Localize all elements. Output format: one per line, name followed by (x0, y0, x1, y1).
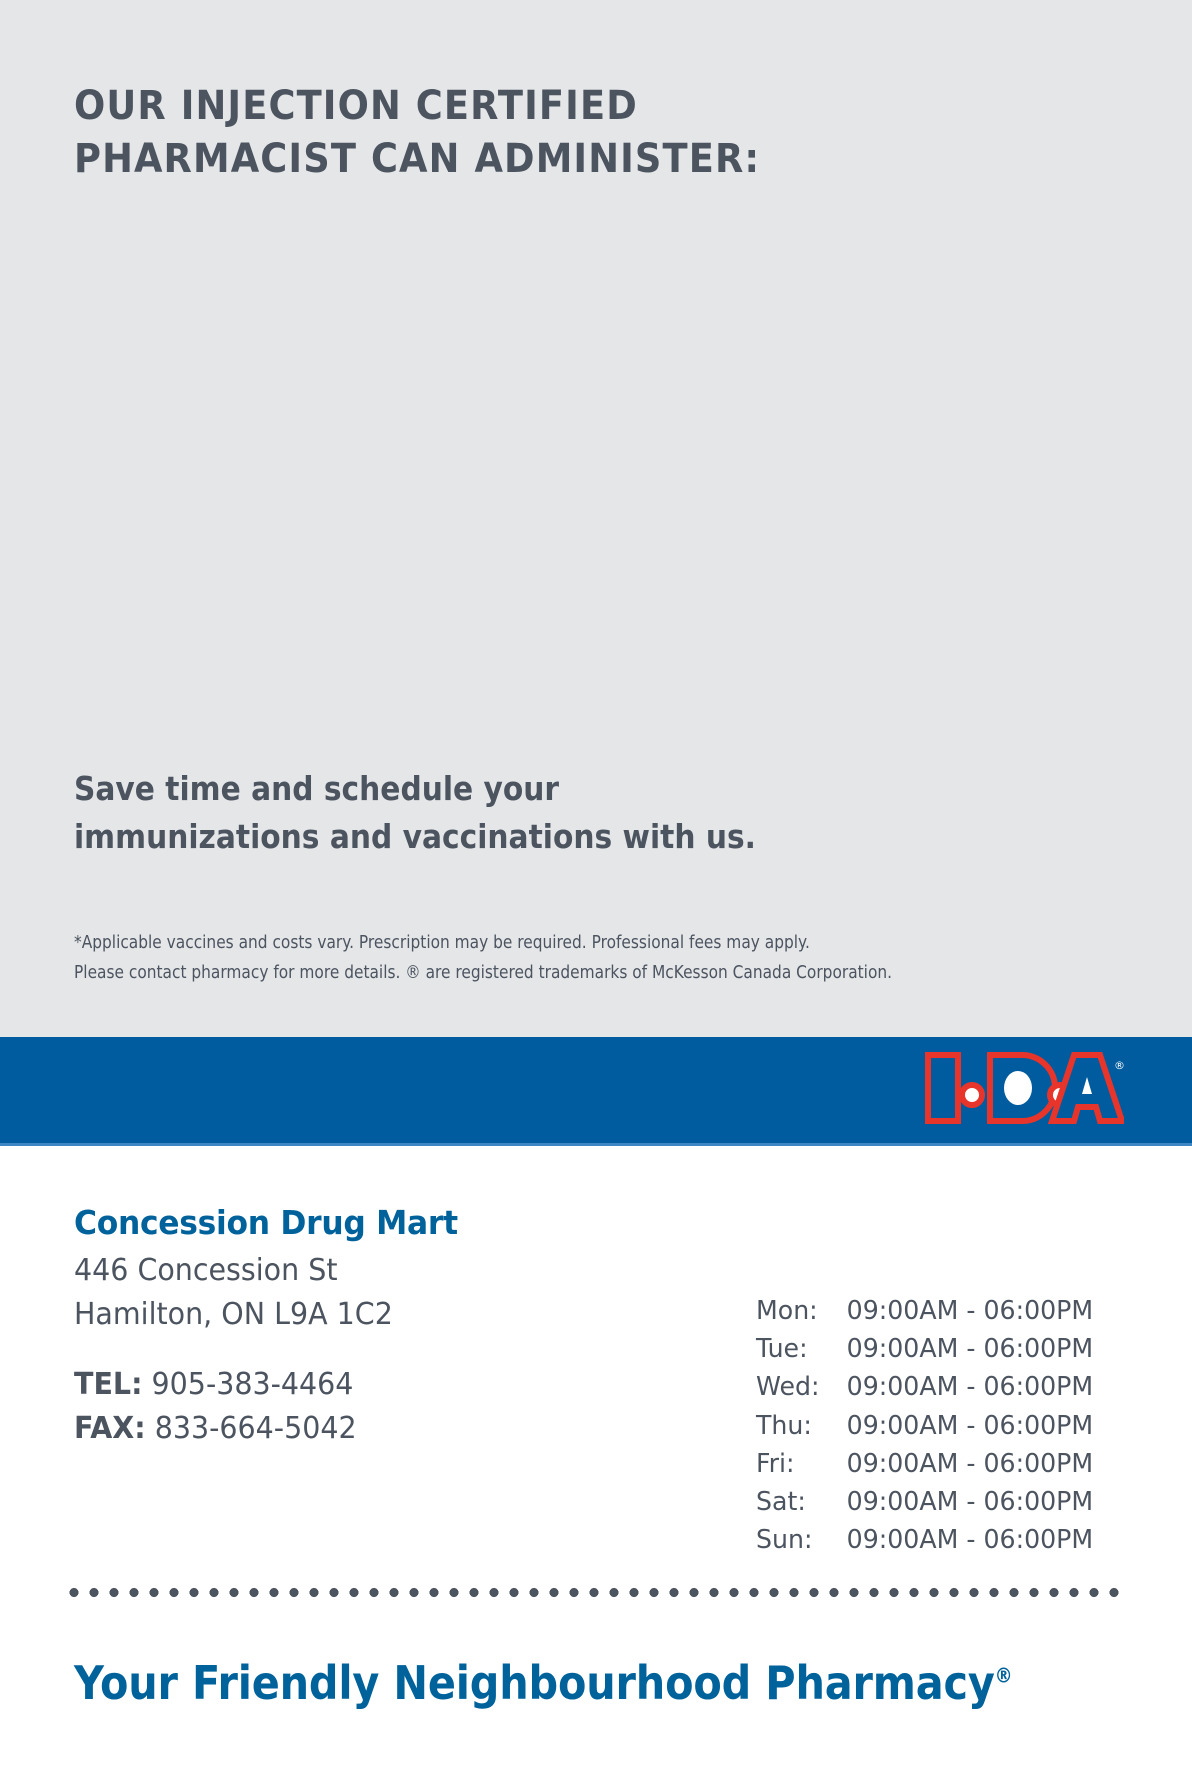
subheading-line-1: Save time and schedule your (74, 765, 848, 813)
registered-trademark-icon: ® (995, 1664, 1013, 1688)
table-row: Mon: 09:00AM - 06:00PM (756, 1292, 1093, 1330)
telephone-row: TEL: 905-383-4464 (74, 1363, 606, 1407)
hours-time: 09:00AM - 06:00PM (847, 1407, 1093, 1445)
address-line-2: Hamilton, ON L9A 1C2 (74, 1293, 606, 1337)
hours-time: 09:00AM - 06:00PM (847, 1521, 1093, 1559)
store-name: Concession Drug Mart (74, 1203, 606, 1243)
hours-time: 09:00AM - 06:00PM (847, 1330, 1093, 1368)
hours-time: 09:00AM - 06:00PM (847, 1445, 1093, 1483)
subheading-line-2: immunizations and vaccinations with us. (74, 813, 848, 861)
headline-line-2: PHARMACIST CAN ADMINISTER: (74, 133, 902, 186)
subheading: Save time and schedule your immunization… (74, 765, 848, 861)
store-address: 446 Concession St Hamilton, ON L9A 1C2 (74, 1249, 606, 1337)
fax-value: 833-664-5042 (155, 1411, 357, 1446)
brand-band-accent-line (0, 1143, 1192, 1146)
page-title: OUR INJECTION CERTIFIED PHARMACIST CAN A… (74, 80, 902, 186)
disclaimer-text: *Applicable vaccines and costs vary. Pre… (74, 928, 1007, 988)
hours-time: 09:00AM - 06:00PM (847, 1368, 1093, 1406)
hours-day: Sun: (756, 1521, 847, 1559)
tagline-text: Your Friendly Neighbourhood Pharmacy (74, 1656, 995, 1710)
headline-line-1: OUR INJECTION CERTIFIED (74, 80, 902, 133)
hours-day: Fri: (756, 1445, 847, 1483)
hours-day: Sat: (756, 1483, 847, 1521)
hours-time: 09:00AM - 06:00PM (847, 1483, 1093, 1521)
top-promo-panel: OUR INJECTION CERTIFIED PHARMACIST CAN A… (0, 0, 1192, 1037)
svg-text:®: ® (1114, 1059, 1124, 1072)
table-row: Sat: 09:00AM - 06:00PM (756, 1483, 1093, 1521)
table-row: Fri: 09:00AM - 06:00PM (756, 1445, 1093, 1483)
table-row: Wed: 09:00AM - 06:00PM (756, 1368, 1093, 1406)
table-row: Tue: 09:00AM - 06:00PM (756, 1330, 1093, 1368)
address-line-1: 446 Concession St (74, 1249, 606, 1293)
hours-day: Thu: (756, 1407, 847, 1445)
disclaimer-line-2: Please contact pharmacy for more details… (74, 958, 1007, 988)
table-row: Sun: 09:00AM - 06:00PM (756, 1521, 1093, 1559)
store-info-block: Concession Drug Mart 446 Concession St H… (74, 1203, 634, 1451)
store-hours-body: Mon: 09:00AM - 06:00PM Tue: 09:00AM - 06… (756, 1292, 1093, 1560)
dotted-divider (64, 1588, 1122, 1597)
store-contact: TEL: 905-383-4464 FAX: 833-664-5042 (74, 1363, 606, 1451)
table-row: Thu: 09:00AM - 06:00PM (756, 1407, 1093, 1445)
disclaimer-line-1: *Applicable vaccines and costs vary. Pre… (74, 928, 1007, 958)
hours-day: Mon: (756, 1292, 847, 1330)
fax-row: FAX: 833-664-5042 (74, 1407, 606, 1451)
ida-logo: ® (924, 1047, 1124, 1131)
store-hours-table: Mon: 09:00AM - 06:00PM Tue: 09:00AM - 06… (756, 1292, 1093, 1560)
tagline: Your Friendly Neighbourhood Pharmacy® (74, 1656, 1012, 1710)
hours-time: 09:00AM - 06:00PM (847, 1292, 1093, 1330)
hours-day: Tue: (756, 1330, 847, 1368)
fax-label: FAX: (74, 1411, 146, 1446)
telephone-label: TEL: (74, 1367, 142, 1402)
telephone-value[interactable]: 905-383-4464 (152, 1367, 354, 1402)
hours-day: Wed: (756, 1368, 847, 1406)
